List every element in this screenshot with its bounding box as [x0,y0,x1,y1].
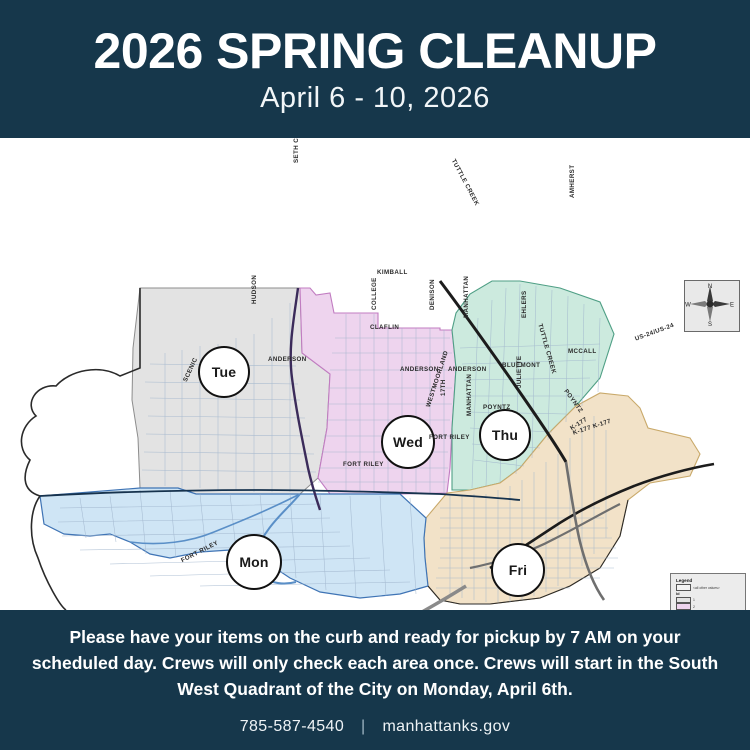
street-label-ehlers: EHLERS [521,291,528,319]
legend-id-label-1: 1 [693,598,695,602]
spring-cleanup-poster: 2026 SPRING CLEANUP April 6 - 10, 2026 [0,0,750,750]
poster-header: 2026 SPRING CLEANUP April 6 - 10, 2026 [0,0,750,138]
day-marker-mon[interactable]: Mon [226,534,282,590]
contact-separator: | [361,718,366,735]
legend-all-other-values-label: <all other values> [693,586,720,590]
legend-id-row-2: 2 [676,604,741,609]
street-label-17th: 17TH [440,379,447,396]
city-limit-west [21,288,140,496]
map-legend: Legend <all other values> Id 1 2 3 4 [670,573,746,610]
day-marker-wed-label: Wed [393,434,423,450]
cleanup-zone-map[interactable]: Tue Wed Thu Mon Fri SETH CHILD KIMBALL C… [0,138,750,610]
street-label-anderson-e: ANDERSON [448,366,487,373]
legend-id-label-2: 2 [693,605,695,609]
street-label-claflin: CLAFLIN [370,324,399,331]
compass-rose-icon: N S W E [685,281,735,327]
day-marker-fri-label: Fri [509,562,528,578]
legend-swatch-all-other [676,584,691,591]
poster-footer: Please have your items on the curb and r… [0,610,750,750]
map-graphic [0,138,750,610]
page-title: 2026 SPRING CLEANUP [94,25,657,77]
street-label-manhattan-n: MANHATTAN [463,276,470,318]
street-label-fort-riley-mid: FORT RILEY [343,461,384,468]
street-label-juliette: JULIETTE [516,356,523,388]
svg-text:E: E [730,303,734,309]
day-marker-wed[interactable]: Wed [381,415,435,469]
page-subtitle: April 6 - 10, 2026 [260,83,490,114]
website-link[interactable]: manhattanks.gov [382,718,510,735]
street-label-mccall: MCCALL [568,348,597,355]
day-marker-tue[interactable]: Tue [198,346,250,398]
street-label-anderson-c: ANDERSON [400,366,439,373]
svg-text:W: W [685,303,691,309]
day-marker-mon-label: Mon [239,554,268,570]
street-label-poyntz-w: POYNTZ [483,404,511,411]
north-arrow: N S W E [684,280,740,332]
street-label-college: COLLEGE [371,277,378,310]
svg-text:S: S [708,322,712,327]
street-label-manhattan-s: MANHATTAN [466,374,473,416]
contact-line: 785-587-4540 | manhattanks.gov [240,718,511,736]
day-marker-thu-label: Thu [492,427,518,443]
phone-number[interactable]: 785-587-4540 [240,718,344,735]
street-label-denison: DENISON [429,279,436,310]
street-label-amherst: AMHERST [569,165,576,198]
legend-id-title: Id [676,591,741,596]
instructions-text: Please have your items on the curb and r… [25,624,725,702]
day-marker-fri[interactable]: Fri [491,543,545,597]
street-label-seth-child: SETH CHILD [293,138,300,163]
day-marker-thu[interactable]: Thu [479,409,531,461]
street-label-anderson-w: ANDERSON [268,356,307,363]
street-label-kimball: KIMBALL [377,269,408,276]
svg-text:N: N [708,284,712,290]
day-marker-tue-label: Tue [212,364,236,380]
legend-all-other-values-row: <all other values> [676,585,741,590]
street-label-hudson: HUDSON [251,275,258,304]
street-label-fort-riley-downtown: FORT RILEY [429,434,470,441]
legend-id-row-1: 1 [676,597,741,602]
legend-title: Legend [676,578,741,583]
